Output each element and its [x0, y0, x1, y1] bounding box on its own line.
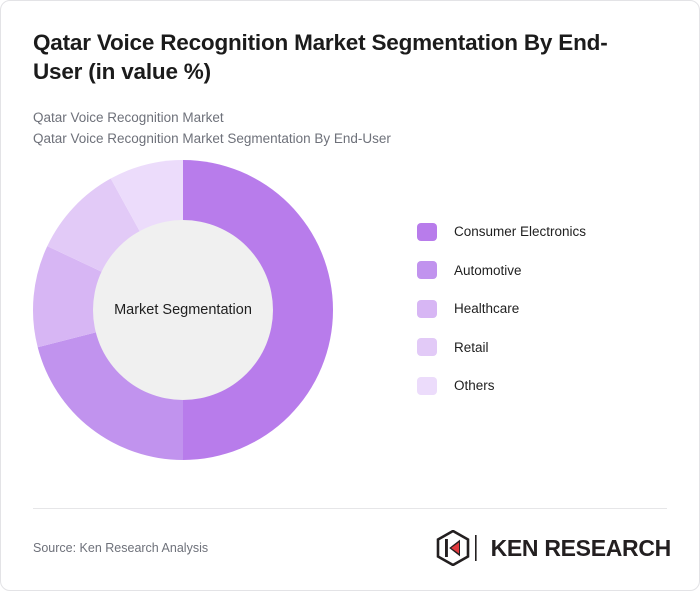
legend-swatch-icon [417, 223, 437, 241]
subtitle-group: Qatar Voice Recognition Market Qatar Voi… [33, 107, 667, 151]
legend-item[interactable]: Automotive [417, 251, 586, 290]
donut-chart: Market Segmentation [33, 160, 333, 460]
source-note: Source: Ken Research Analysis [33, 541, 208, 555]
legend-item-label: Automotive [454, 263, 522, 278]
subtitle-secondary: Qatar Voice Recognition Market Segmentat… [33, 128, 667, 150]
donut-chart-svg [33, 160, 333, 460]
brand-logo: KEN RESEARCH [436, 530, 671, 566]
footer-divider [33, 508, 667, 509]
legend-swatch-icon [417, 338, 437, 356]
legend-swatch-icon [417, 261, 437, 279]
legend-item[interactable]: Others [417, 366, 586, 405]
legend-item-label: Retail [454, 340, 489, 355]
legend-swatch-icon [417, 300, 437, 318]
donut-center-circle [93, 220, 273, 400]
chart-legend: Consumer ElectronicsAutomotiveHealthcare… [417, 212, 586, 405]
page-title: Qatar Voice Recognition Market Segmentat… [33, 29, 633, 87]
ken-research-logo-icon [436, 530, 470, 566]
legend-swatch-icon [417, 377, 437, 395]
legend-item[interactable]: Healthcare [417, 289, 586, 328]
card-footer: Source: Ken Research Analysis KEN RESEAR… [33, 526, 671, 570]
card-header: Qatar Voice Recognition Market Segmentat… [1, 1, 699, 150]
chart-card: Qatar Voice Recognition Market Segmentat… [0, 0, 700, 591]
brand-name: KEN RESEARCH [491, 535, 671, 562]
logo-separator-icon [470, 533, 482, 563]
subtitle-primary: Qatar Voice Recognition Market [33, 107, 667, 129]
legend-item-label: Others [454, 378, 495, 393]
legend-item-label: Consumer Electronics [454, 224, 586, 239]
legend-item-label: Healthcare [454, 301, 519, 316]
chart-body: Market Segmentation Consumer Electronics… [1, 150, 699, 480]
legend-item[interactable]: Retail [417, 328, 586, 367]
legend-item[interactable]: Consumer Electronics [417, 212, 586, 251]
